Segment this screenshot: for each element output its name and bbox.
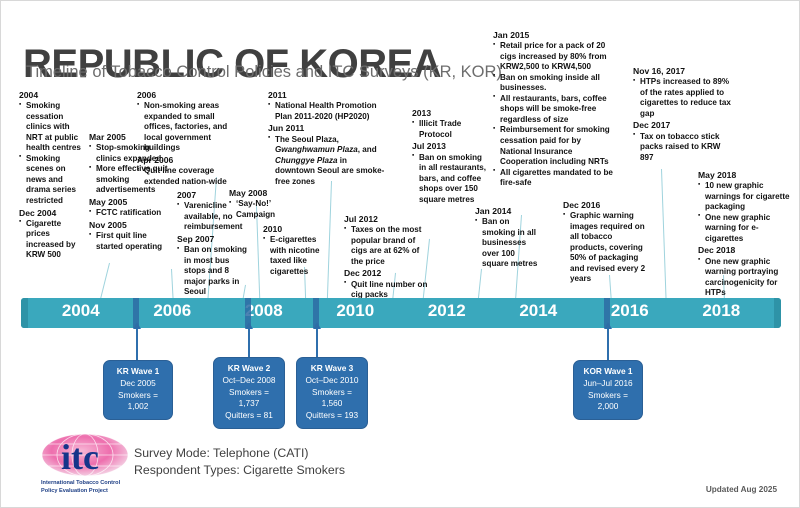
updated-label: Updated Aug 2025 — [706, 485, 777, 494]
page-subtitle: Timeline of Tobacco Control Policies and… — [26, 63, 502, 82]
annotation-year: Jul 2012 — [344, 214, 432, 225]
annotation-year: 2006 — [137, 90, 245, 101]
leader-line — [661, 169, 667, 307]
wave-title: KR Wave 1 — [110, 366, 166, 378]
annotation-item: Cigarette prices increased by KRW 500 — [19, 219, 81, 261]
annotation-year: Dec 2012 — [344, 268, 432, 279]
annotation-list: E-cigarettes with nicotine taxed like ci… — [263, 235, 329, 277]
timeline-tick — [245, 298, 251, 328]
timeline-year-2014: 2014 — [503, 301, 573, 321]
respondent-types: Respondent Types: Cigarette Smokers — [134, 462, 345, 479]
svg-text:itc: itc — [61, 437, 99, 477]
itc-logo-tagline: International Tobacco Control Policy Eva… — [41, 479, 151, 495]
annotation-year: 2004 — [19, 90, 81, 101]
annotation-year: Nov 2005 — [89, 220, 169, 231]
timeline-bar-right-cap — [774, 298, 781, 328]
wave-dates: Jun–Jul 2016 — [580, 378, 636, 390]
annotation-list: Ban on smoking in most bus stops and 8 m… — [177, 245, 247, 298]
annotation-item: All cigarettes mandated to be fire-safe — [493, 168, 613, 189]
annotation-2004: 2004Smoking cessation clinics with NRT a… — [19, 89, 81, 261]
wave-box[interactable]: KR Wave 1 Dec 2005 Smokers = 1,002 — [103, 360, 173, 420]
timeline-year-2010: 2010 — [320, 301, 390, 321]
wave-smokers: Smokers = 1,560 — [303, 387, 361, 411]
wave-dates: Oct–Dec 2008 — [220, 375, 278, 387]
survey-info: Survey Mode: Telephone (CATI) Respondent… — [134, 445, 345, 480]
annotation-item: ‘Say-No!’ Campaign — [229, 199, 307, 220]
annotation-item: Tax on tobacco stick packs raised to KRW… — [633, 132, 735, 164]
annotation-item: Non-smoking areas expanded to small offi… — [137, 101, 245, 154]
annotation-year: May 2008 — [229, 188, 307, 199]
annotation-item: Ban on smoking in most bus stops and 8 m… — [177, 245, 247, 298]
annotation-list: Illicit Trade Protocol — [412, 119, 488, 140]
annotation-list: Cigarette prices increased by KRW 500 — [19, 219, 81, 261]
annotation-item: Ban on smoking inside all businesses. — [493, 73, 613, 94]
annotation-item: Ban on smoking in all businesses over 10… — [475, 217, 541, 270]
annotation-list: Ban on smoking in all businesses over 10… — [475, 217, 541, 270]
annotation-year: Sep 2007 — [177, 234, 247, 245]
timeline-tick — [133, 298, 139, 328]
annotation-item: The Seoul Plaza, Gwanghwamun Plaza, and … — [268, 135, 386, 188]
annotation-2006: 2006Non-smoking areas expanded to small … — [137, 89, 245, 187]
annotation-year: Jul 2013 — [412, 141, 488, 152]
annotation-list: Taxes on the most popular brand of cigs … — [344, 225, 432, 267]
annotation-item: Smoking scenes on news and drama series … — [19, 154, 81, 207]
annotation-list: 10 new graphic warnings for cigarette pa… — [698, 181, 794, 244]
annotation-list: One new graphic warning portraying carci… — [698, 257, 794, 299]
timeline-poster: REPUBLIC OF KOREA Timeline of Tobacco Co… — [0, 0, 800, 508]
itc-logo: itc International Tobacco Control Policy… — [41, 433, 146, 495]
annotation-item: First quit line started operating — [89, 231, 169, 252]
annotation-list: ‘Say-No!’ Campaign — [229, 199, 307, 220]
annotation-2015: Jan 2015Retail price for a pack of 20 ci… — [493, 29, 613, 189]
leader-line — [256, 206, 261, 306]
wave-arrow — [136, 328, 138, 361]
annotation-item: Retail price for a pack of 20 cigs incre… — [493, 41, 613, 73]
annotation-item: Taxes on the most popular brand of cigs … — [344, 225, 432, 267]
annotation-list: Smoking cessation clinics with NRT at pu… — [19, 101, 81, 206]
annotation-year: May 2005 — [89, 197, 169, 208]
annotation-2016: Dec 2016Graphic warning images required … — [563, 199, 647, 285]
timeline-year-2004: 2004 — [46, 301, 116, 321]
survey-mode: Survey Mode: Telephone (CATI) — [134, 445, 345, 462]
annotation-item: National Health Promotion Plan 2011-2020… — [268, 101, 386, 122]
timeline-tick — [604, 298, 610, 328]
itc-tagline-line2: Policy Evaluation Project — [41, 487, 151, 495]
annotation-2017: Nov 16, 2017HTPs increased to 89% of the… — [633, 65, 735, 163]
itc-logo-mark: itc — [41, 433, 136, 479]
annotation-item: Smoking cessation clinics with NRT at pu… — [19, 101, 81, 154]
wave-dates: Oct–Dec 2010 — [303, 375, 361, 387]
annotation-item: One new graphic warning for e-cigarettes — [698, 213, 794, 245]
annotation-list: HTPs increased to 89% of the rates appli… — [633, 77, 735, 119]
annotation-2008: May 2008‘Say-No!’ Campaign — [229, 187, 307, 220]
annotation-list: Non-smoking areas expanded to small offi… — [137, 101, 245, 154]
wave-box[interactable]: KR Wave 2 Oct–Dec 2008 Smokers = 1,737 Q… — [213, 357, 285, 429]
annotation-list: FCTC ratification — [89, 208, 169, 219]
wave-box[interactable]: KOR Wave 1 Jun–Jul 2016 Smokers = 2,000 — [573, 360, 643, 420]
annotation-year: Apr 2006 — [137, 155, 245, 166]
timeline-bar-left-cap — [21, 298, 28, 328]
annotation-item: Quit line coverage extended nation-wide — [137, 166, 245, 187]
annotation-item: All restaurants, bars, coffee shops will… — [493, 94, 613, 126]
annotation-year: Jun 2011 — [268, 123, 386, 134]
annotation-2013: 2013Illicit Trade ProtocolJul 2013Ban on… — [412, 107, 488, 205]
annotation-list: National Health Promotion Plan 2011-2020… — [268, 101, 386, 122]
annotation-year: Jan 2014 — [475, 206, 541, 217]
wave-quitters: Quitters = 81 — [220, 410, 278, 422]
annotation-year: Dec 2018 — [698, 245, 794, 256]
annotation-2018: May 201810 new graphic warnings for ciga… — [698, 169, 794, 299]
annotation-2014: Jan 2014Ban on smoking in all businesses… — [475, 205, 541, 270]
wave-quitters: Quitters = 193 — [303, 410, 361, 422]
annotation-list: Retail price for a pack of 20 cigs incre… — [493, 41, 613, 188]
wave-title: KR Wave 3 — [303, 363, 361, 375]
annotation-list: Quit line coverage extended nation-wide — [137, 166, 245, 187]
annotation-year: Dec 2016 — [563, 200, 647, 211]
timeline-year-2006: 2006 — [137, 301, 207, 321]
itc-globe-icon: itc — [41, 433, 136, 479]
annotation-item: E-cigarettes with nicotine taxed like ci… — [263, 235, 329, 277]
annotation-list: The Seoul Plaza, Gwanghwamun Plaza, and … — [268, 135, 386, 188]
annotation-list: Tax on tobacco stick packs raised to KRW… — [633, 132, 735, 164]
annotation-list: First quit line started operating — [89, 231, 169, 252]
wave-title: KOR Wave 1 — [580, 366, 636, 378]
annotation-year: May 2018 — [698, 170, 794, 181]
wave-smokers: Smokers = 2,000 — [580, 390, 636, 414]
annotation-item: FCTC ratification — [89, 208, 169, 219]
annotation-year: Dec 2004 — [19, 208, 81, 219]
timeline-year-2012: 2012 — [412, 301, 482, 321]
timeline-tick — [313, 298, 319, 328]
annotation-2011: 2011National Health Promotion Plan 2011-… — [268, 89, 386, 187]
annotation-year: Dec 2017 — [633, 120, 735, 131]
annotation-year: 2011 — [268, 90, 386, 101]
annotation-year: 2013 — [412, 108, 488, 119]
wave-smokers: Smokers = 1,002 — [110, 390, 166, 414]
timeline-year-2018: 2018 — [686, 301, 756, 321]
wave-smokers: Smokers = 1,737 — [220, 387, 278, 411]
wave-arrow — [607, 328, 609, 361]
annotation-year: 2010 — [263, 224, 329, 235]
wave-box[interactable]: KR Wave 3 Oct–Dec 2010 Smokers = 1,560 Q… — [296, 357, 368, 429]
annotation-2010: 2010E-cigarettes with nicotine taxed lik… — [263, 223, 329, 277]
annotation-item: HTPs increased to 89% of the rates appli… — [633, 77, 735, 119]
wave-title: KR Wave 2 — [220, 363, 278, 375]
itc-tagline-line1: International Tobacco Control — [41, 479, 151, 487]
annotation-item: Reimbursement for smoking cessation paid… — [493, 125, 613, 167]
annotation-item: Illicit Trade Protocol — [412, 119, 488, 140]
annotation-item: One new graphic warning portraying carci… — [698, 257, 794, 299]
annotation-list: Graphic warning images required on all t… — [563, 211, 647, 285]
annotation-list: Ban on smoking in all restaurants, bars,… — [412, 153, 488, 206]
annotation-year: Jan 2015 — [493, 30, 613, 41]
timeline-year-2008: 2008 — [229, 301, 299, 321]
annotation-item: Graphic warning images required on all t… — [563, 211, 647, 285]
annotation-item: Ban on smoking in all restaurants, bars,… — [412, 153, 488, 206]
annotation-2012: Jul 2012Taxes on the most popular brand … — [344, 213, 432, 301]
annotation-year: Nov 16, 2017 — [633, 66, 735, 77]
wave-dates: Dec 2005 — [110, 378, 166, 390]
annotation-item: 10 new graphic warnings for cigarette pa… — [698, 181, 794, 213]
